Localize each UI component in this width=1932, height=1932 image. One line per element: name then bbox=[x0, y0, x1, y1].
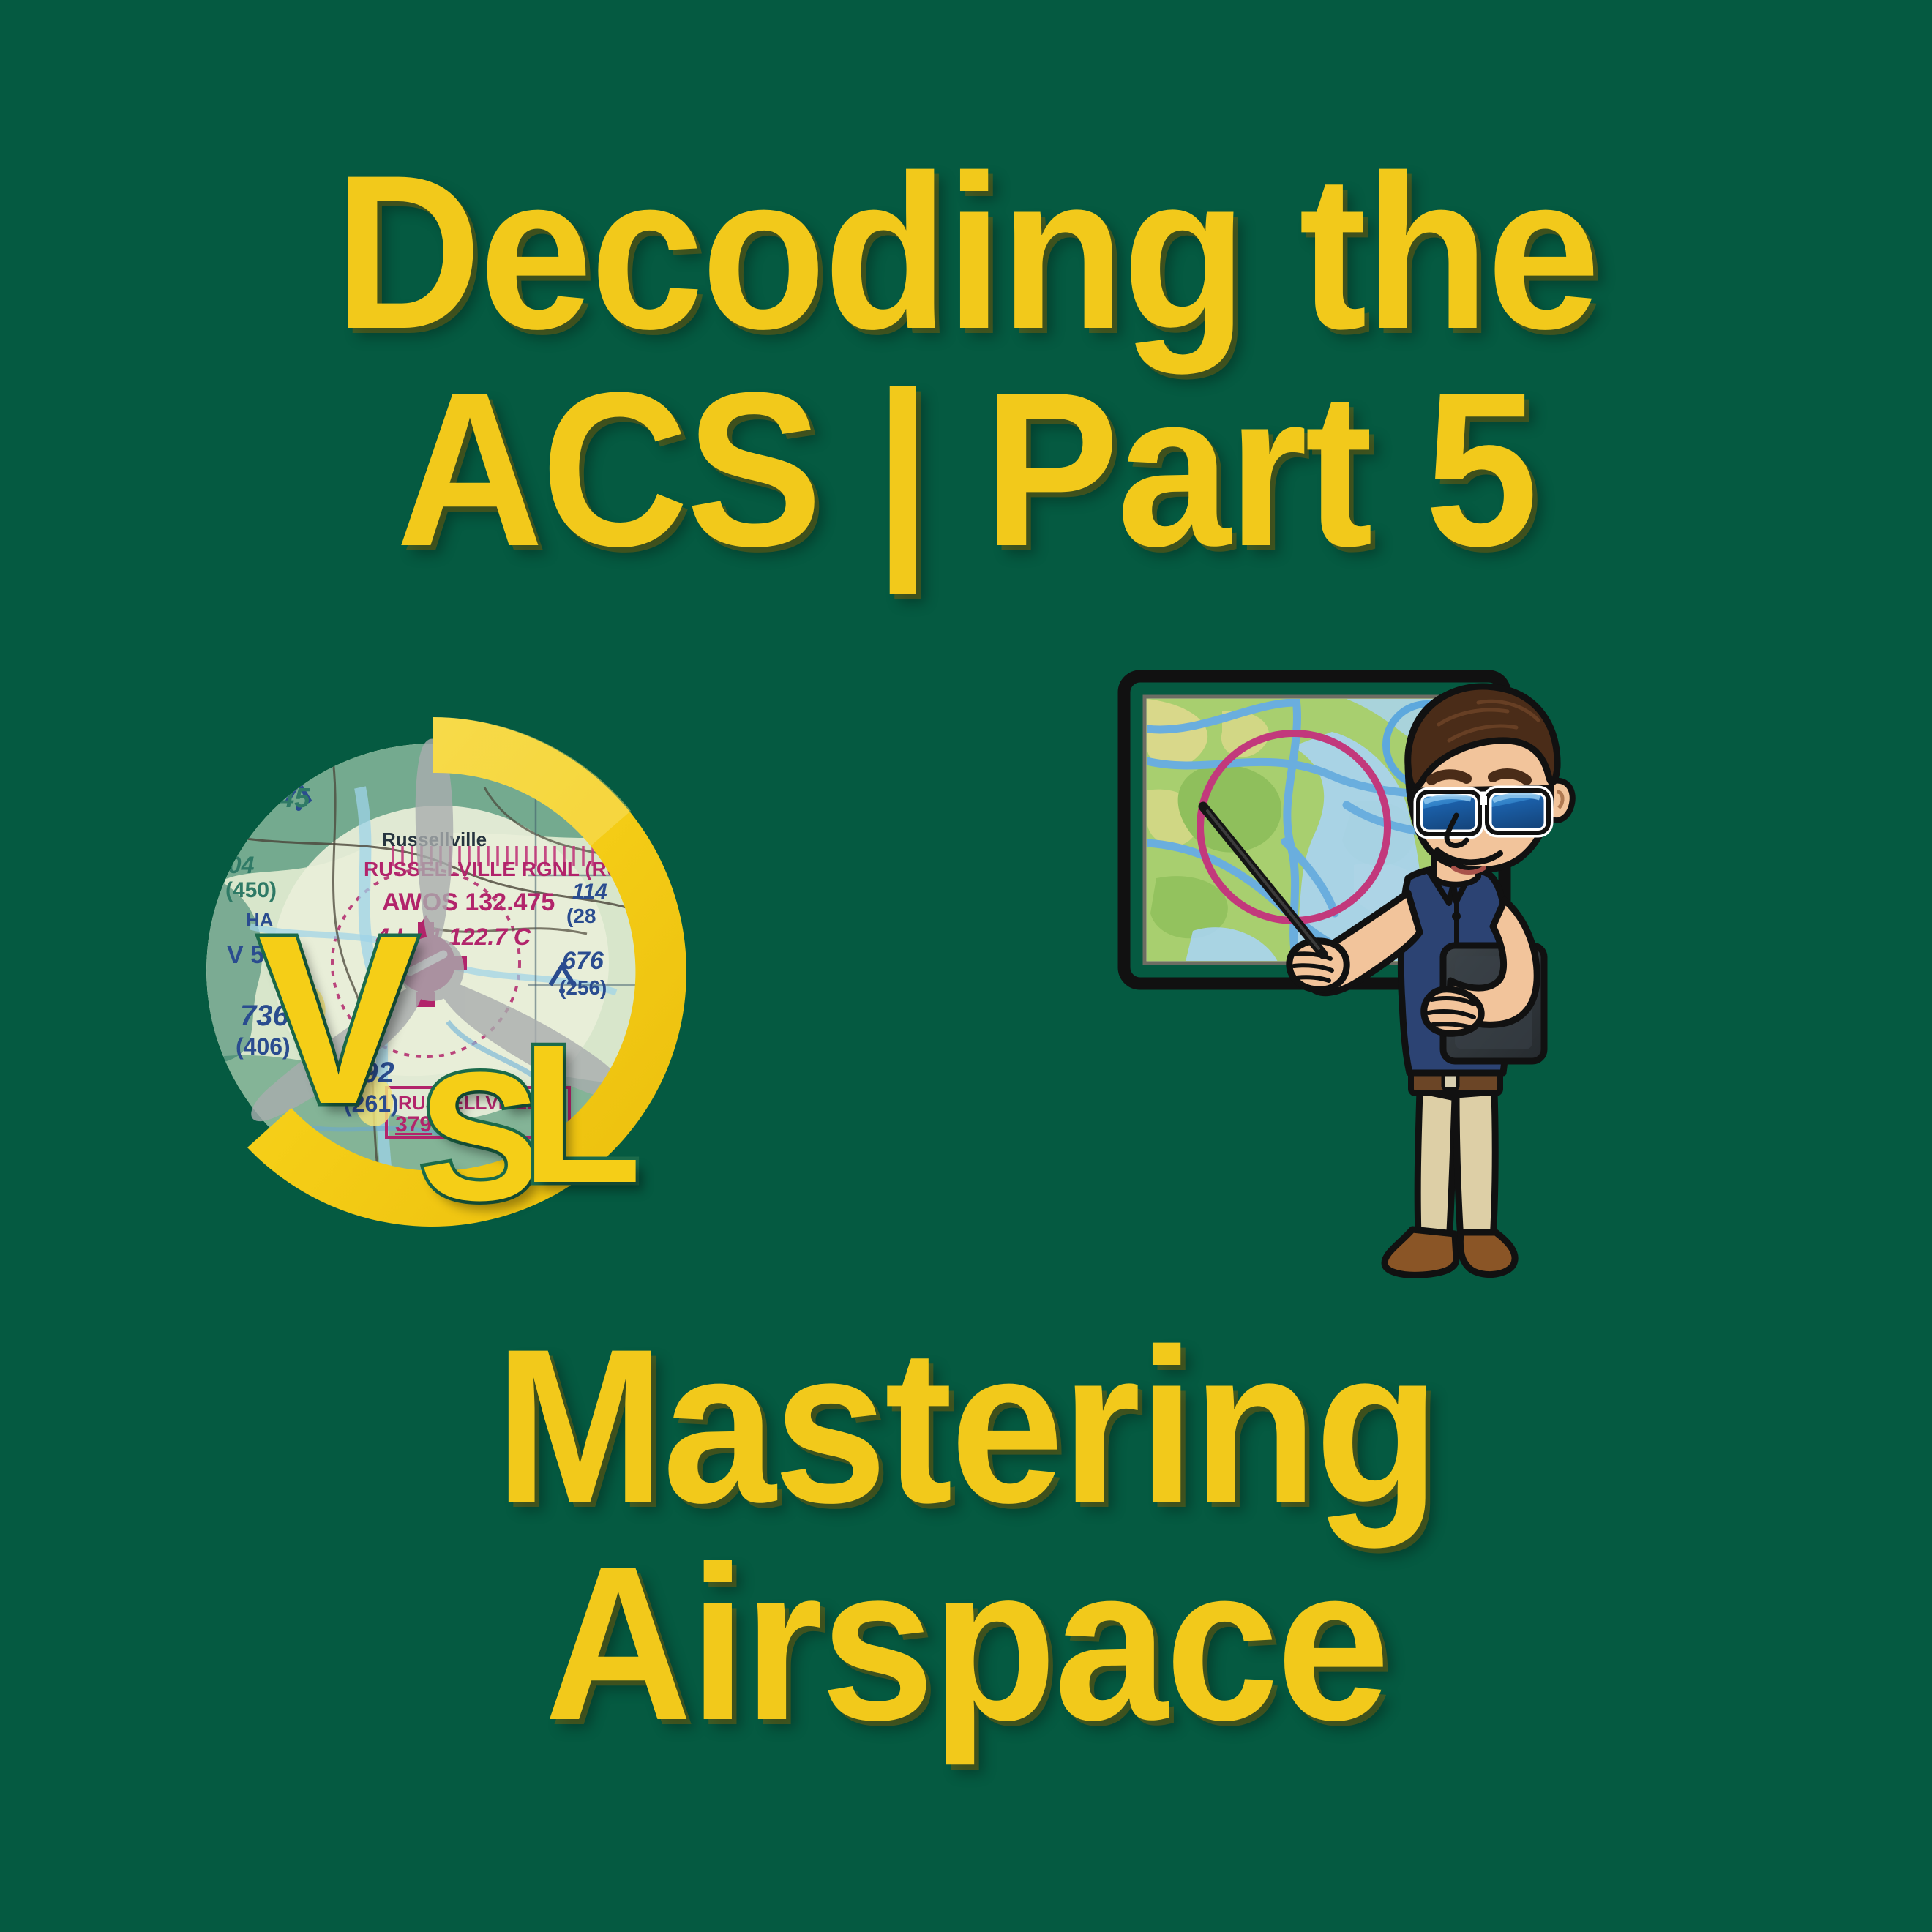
title-line-1: Decoding the bbox=[67, 143, 1864, 361]
vsl-logo: Russellville RUSSELLVILLE RGNL (RUE) AWO… bbox=[162, 701, 704, 1243]
logo-letter-v: V bbox=[258, 899, 419, 1140]
sunglasses-icon bbox=[1415, 787, 1549, 834]
instructor-illustration bbox=[1112, 659, 1698, 1303]
title-line-2: ACS | Part 5 bbox=[67, 361, 1864, 578]
logo-letter-l: L bbox=[521, 1016, 642, 1213]
subtitle-line-1: Mastering bbox=[67, 1317, 1864, 1535]
instructor-scene bbox=[1112, 659, 1698, 1303]
page-title-bottom: Mastering Airspace bbox=[67, 1317, 1864, 1752]
thumbnail-canvas: Decoding the ACS | Part 5 bbox=[0, 0, 1932, 1932]
page-title-top: Decoding the ACS | Part 5 bbox=[67, 143, 1864, 578]
subtitle-line-2: Airspace bbox=[67, 1535, 1864, 1752]
